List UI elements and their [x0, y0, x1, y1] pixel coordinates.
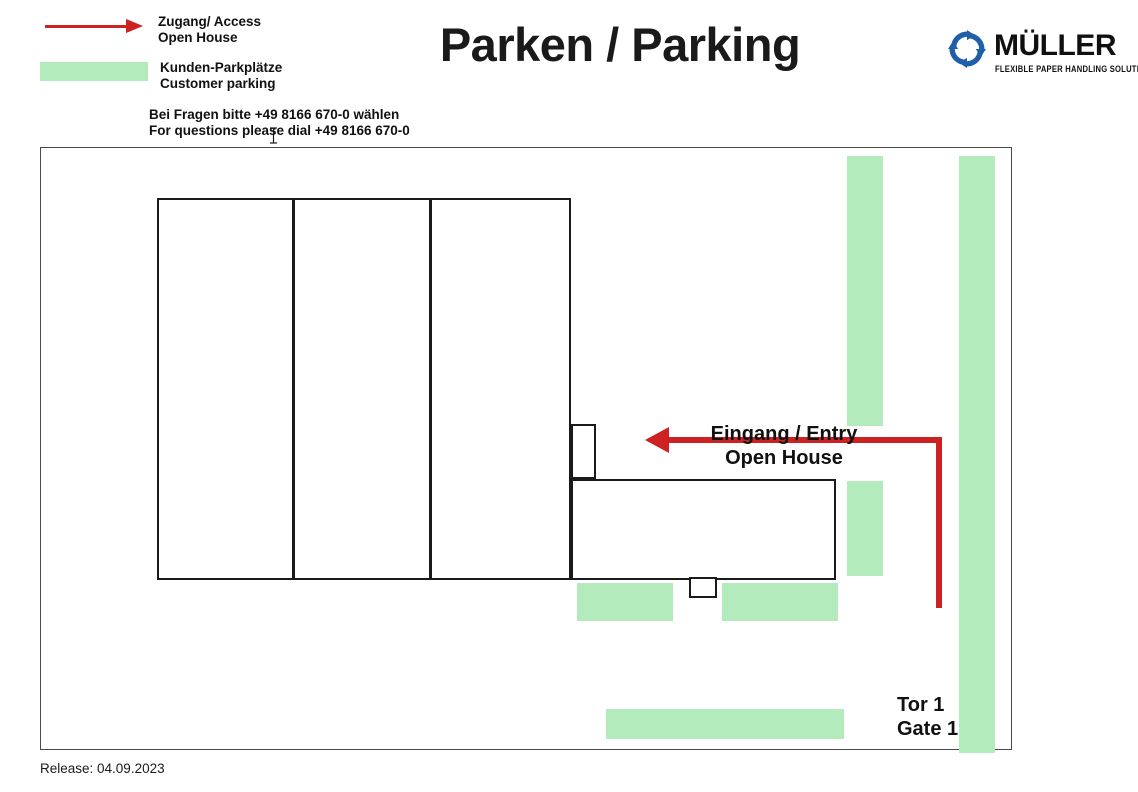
red-arrow-icon	[40, 14, 148, 40]
site-map: Eingang / Entry Open House Tor 1 Gate 1	[40, 147, 1012, 750]
gate-label: Tor 1 Gate 1	[897, 693, 1027, 741]
company-logo: MÜLLER FLEXIBLE PAPER HANDLING SOLUTIONS	[948, 30, 1118, 78]
gate-label-line2: Gate 1	[897, 717, 1027, 741]
legend-parking-line2: Customer parking	[160, 76, 282, 92]
release-date: Release: 04.09.2023	[40, 761, 165, 776]
page-title: Parken / Parking	[410, 17, 830, 72]
entry-label-line2: Open House	[669, 446, 899, 470]
gate-label-line1: Tor 1	[897, 693, 1027, 717]
logo-wordmark: MÜLLER	[994, 31, 1116, 61]
contact-line-de: Bei Fragen bitte +49 8166 670-0 wählen	[149, 107, 410, 123]
contact-line-en: For questions please dial +49 8166 670-0	[149, 123, 410, 139]
legend-access-text: Zugang/ Access Open House	[148, 14, 261, 46]
entry-label: Eingang / Entry Open House	[669, 422, 899, 470]
muller-swirl-icon	[948, 30, 986, 68]
logo-tagline: FLEXIBLE PAPER HANDLING SOLUTIONS	[995, 63, 1138, 74]
legend-access-line1: Zugang/ Access	[158, 14, 261, 30]
legend-parking-text: Kunden-Parkplätze Customer parking	[160, 60, 282, 92]
legend-parking-line1: Kunden-Parkplätze	[160, 60, 282, 76]
contact-info: Bei Fragen bitte +49 8166 670-0 wählen F…	[149, 107, 410, 139]
legend-access-line2: Open House	[158, 30, 261, 46]
legend-item-parking: Kunden-Parkplätze Customer parking	[40, 60, 282, 92]
legend-item-access: Zugang/ Access Open House	[40, 14, 261, 46]
green-swatch-icon	[40, 62, 148, 81]
entry-label-line1: Eingang / Entry	[669, 422, 899, 446]
